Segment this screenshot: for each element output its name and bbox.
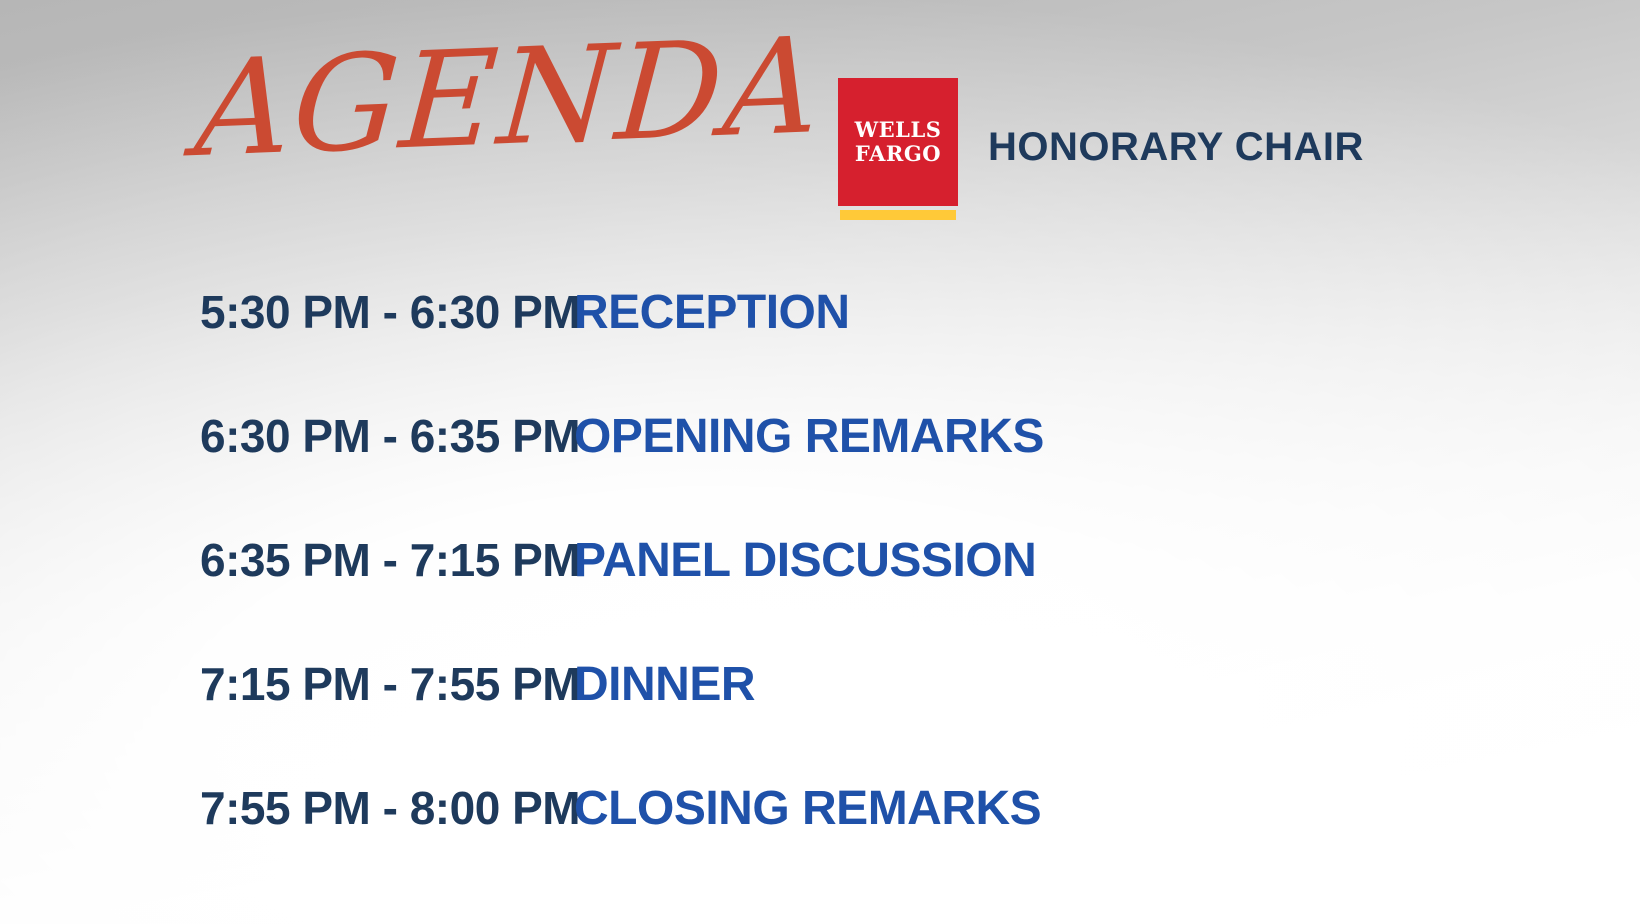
honorary-chair-block: WELLS FARGO HONORARY CHAIR — [838, 78, 1364, 220]
agenda-row: 7:55 PM - 8:00 PMCLOSING REMARKS — [0, 746, 1640, 870]
agenda-row-event: PANEL DISCUSSION — [540, 533, 1036, 588]
agenda-row-time: 5:30 PM - 6:30 PM — [0, 285, 540, 339]
agenda-row-event: RECEPTION — [540, 285, 850, 340]
wells-fargo-logo-line-1: WELLS — [855, 118, 942, 142]
honorary-chair-label: HONORARY CHAIR — [988, 125, 1364, 174]
wells-fargo-logo-yellow-bar — [840, 210, 956, 220]
agenda-row: 6:30 PM - 6:35 PMOPENING REMARKS — [0, 374, 1640, 498]
agenda-row-time: 7:15 PM - 7:55 PM — [0, 657, 540, 711]
wells-fargo-logo: WELLS FARGO — [838, 78, 958, 220]
agenda-row: 5:30 PM - 6:30 PMRECEPTION — [0, 250, 1640, 374]
wells-fargo-logo-box: WELLS FARGO — [838, 78, 958, 206]
agenda-row-time: 6:35 PM - 7:15 PM — [0, 533, 540, 587]
agenda-row-time: 7:55 PM - 8:00 PM — [0, 781, 540, 835]
wells-fargo-logo-line-2: FARGO — [855, 142, 941, 166]
page-title: AGENDA — [192, 24, 720, 176]
agenda-row: 6:35 PM - 7:15 PMPANEL DISCUSSION — [0, 498, 1640, 622]
agenda-row: 7:15 PM - 7:55 PMDINNER — [0, 622, 1640, 746]
slide-content: AGENDA WELLS FARGO HONORARY CHAIR 5:30 P… — [0, 0, 1640, 924]
agenda-row-event: OPENING REMARKS — [540, 409, 1044, 464]
agenda-slide: AGENDA WELLS FARGO HONORARY CHAIR 5:30 P… — [0, 0, 1640, 924]
agenda-row-time: 6:30 PM - 6:35 PM — [0, 409, 540, 463]
agenda-list: 5:30 PM - 6:30 PMRECEPTION6:30 PM - 6:35… — [0, 250, 1640, 870]
agenda-row-event: CLOSING REMARKS — [540, 781, 1041, 836]
agenda-row-event: DINNER — [540, 657, 755, 712]
